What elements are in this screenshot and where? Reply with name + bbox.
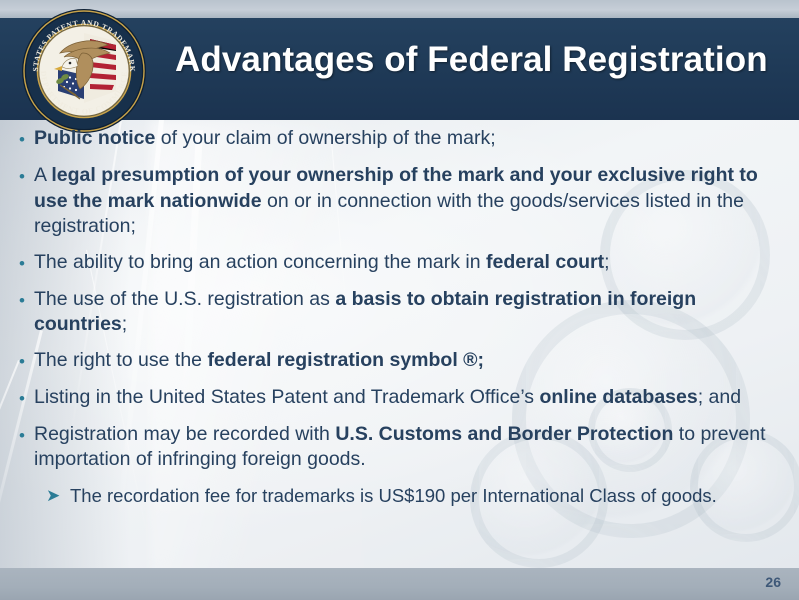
bullet-text-emphasis: federal court (486, 251, 604, 273)
bullet-text-plain: ; (604, 251, 609, 273)
bullet-item: •The use of the U.S. registration as a b… (0, 287, 799, 338)
bullet-dot-icon: • (10, 163, 34, 190)
bullet-item: •Listing in the United States Patent and… (0, 385, 799, 412)
bullet-text: The use of the U.S. registration as a ba… (34, 287, 799, 338)
bullet-text-emphasis: online databases (539, 386, 697, 408)
bullet-text: Registration may be recorded with U.S. C… (34, 422, 799, 473)
bullet-item: •The ability to bring an action concerni… (0, 250, 799, 277)
bullet-text-plain: The ability to bring an action concernin… (34, 251, 486, 273)
bullet-text: The right to use the federal registratio… (34, 348, 799, 374)
bullet-dot-icon: • (10, 287, 34, 314)
bullet-dot-icon: • (10, 250, 34, 277)
uspto-seal: UNITED STATES PATENT AND TRADEMARK OFFIC… (20, 7, 148, 135)
bullet-text-plain: ; (122, 313, 127, 335)
uspto-seal-icon: UNITED STATES PATENT AND TRADEMARK OFFIC… (20, 7, 148, 135)
sub-bullet-text: The recordation fee for trademarks is US… (70, 483, 799, 508)
arrow-bullet-icon: ➤ (46, 483, 70, 509)
bullet-text-emphasis: U.S. Customs and Border Protection (335, 423, 673, 445)
slide-canvas: Advantages of Federal Registration (0, 0, 799, 600)
bullet-text-plain: Listing in the United States Patent and … (34, 386, 539, 408)
bullet-text-plain: The right to use the (34, 349, 207, 371)
bullet-text-plain: ; and (698, 386, 741, 408)
bullet-text-plain: of your claim of ownership of the mark; (155, 127, 495, 149)
bullet-dot-icon: • (10, 348, 34, 375)
footer-band (0, 568, 799, 600)
bullet-item: •The right to use the federal registrati… (0, 348, 799, 375)
bullet-text-plain: The use of the U.S. registration as (34, 288, 335, 310)
page-number: 26 (765, 574, 781, 590)
bullet-text-plain: Registration may be recorded with (34, 423, 335, 445)
bullet-text: Public notice of your claim of ownership… (34, 126, 799, 152)
bullet-text-emphasis: Public notice (34, 127, 155, 149)
bullet-item: •Public notice of your claim of ownershi… (0, 126, 799, 153)
slide-title: Advantages of Federal Registration (175, 40, 775, 80)
bullet-dot-icon: • (10, 126, 34, 153)
bullet-text-plain: A (34, 164, 51, 186)
bullet-dot-icon: • (10, 422, 34, 449)
bullet-text: Listing in the United States Patent and … (34, 385, 799, 411)
bullet-item: •A legal presumption of your ownership o… (0, 163, 799, 240)
bullet-text-emphasis: federal registration symbol ®; (207, 349, 484, 371)
bullet-text: A legal presumption of your ownership of… (34, 163, 799, 240)
bullet-list: •Public notice of your claim of ownershi… (0, 126, 799, 568)
bullet-dot-icon: • (10, 385, 34, 412)
bullet-text: The ability to bring an action concernin… (34, 250, 799, 276)
sub-bullet-item: ➤The recordation fee for trademarks is U… (0, 483, 799, 509)
bullet-item: •Registration may be recorded with U.S. … (0, 422, 799, 473)
